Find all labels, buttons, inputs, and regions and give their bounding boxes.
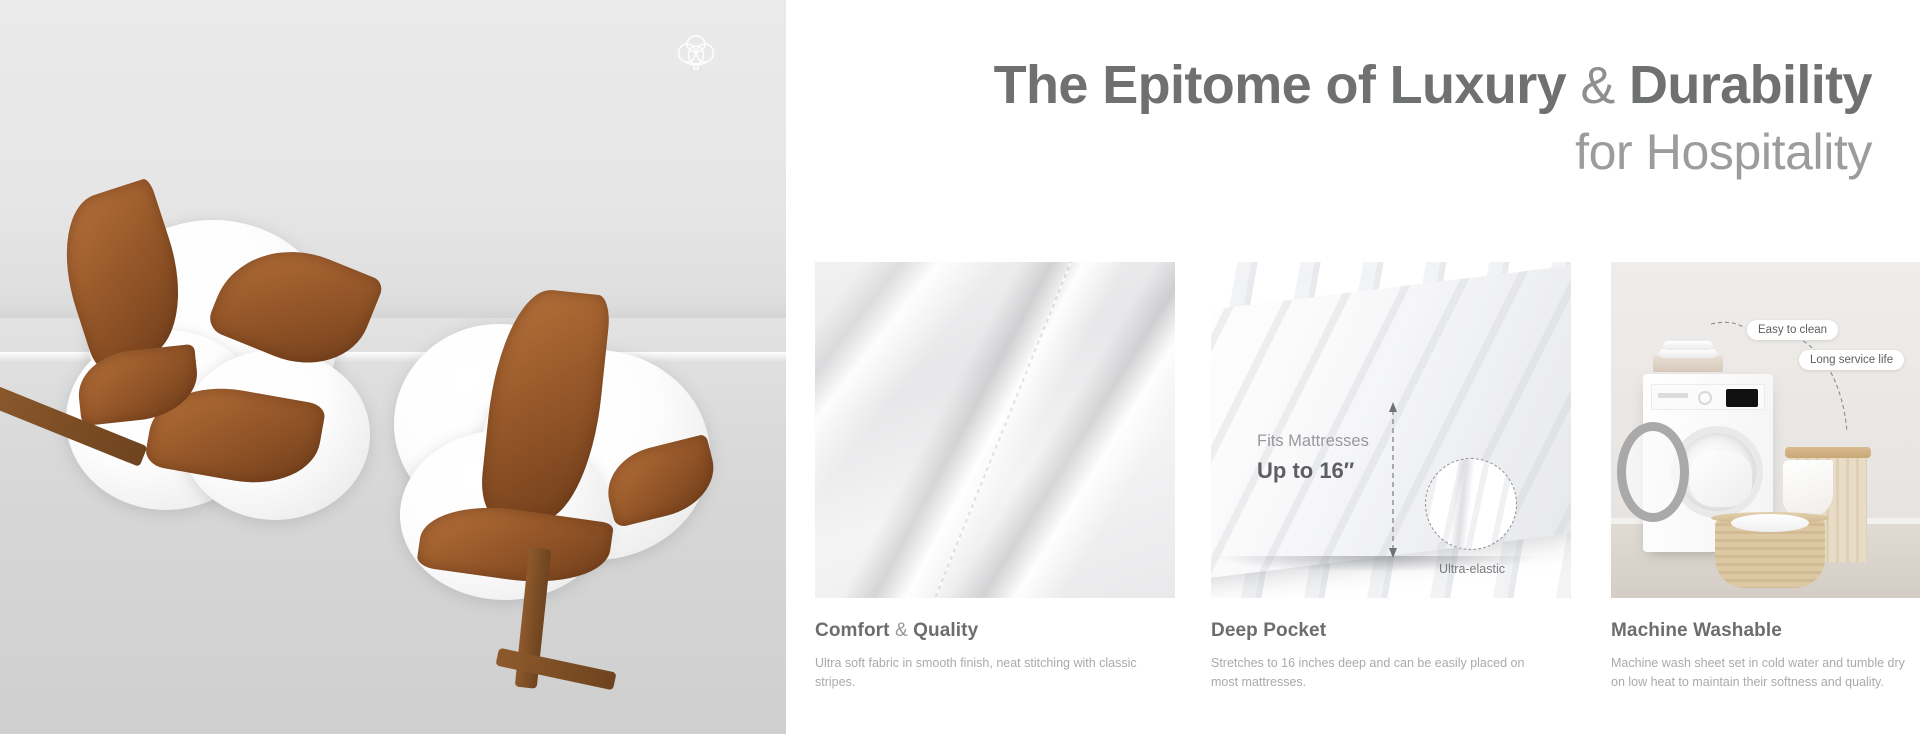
hamper-lid bbox=[1785, 447, 1871, 458]
hero-headline-block: The Epitome of Luxury & Durability for H… bbox=[994, 58, 1872, 178]
feature-card-machine-washable[interactable]: Easy to clean Long service life Machine … bbox=[1611, 262, 1920, 693]
towel-basket bbox=[1653, 356, 1723, 372]
washer-control-panel bbox=[1651, 384, 1765, 410]
card-desc-deep-pocket: Stretches to 16 inches deep and can be e… bbox=[1211, 654, 1541, 693]
depth-value-label: Up to 16″ bbox=[1257, 458, 1354, 484]
elastic-fold-highlight bbox=[1448, 458, 1475, 549]
card-title-machine-washable: Machine Washable bbox=[1611, 620, 1920, 642]
card-title-part-1: Machine Washable bbox=[1611, 620, 1782, 641]
feature-card-deep-pocket[interactable]: Fits Mattresses Up to 16″ Ultra-elastic … bbox=[1211, 262, 1571, 693]
card-title-part-2: Quality bbox=[913, 620, 978, 641]
hero-subheadline: for Hospitality bbox=[994, 127, 1872, 178]
content-panel: The Epitome of Luxury & Durability for H… bbox=[786, 0, 1920, 734]
fabric-texture bbox=[815, 262, 1175, 598]
fits-mattresses-label: Fits Mattresses bbox=[1257, 432, 1369, 451]
towel-roll bbox=[1663, 341, 1713, 350]
folded-towels bbox=[1653, 338, 1723, 372]
depth-dimension-arrow-icon bbox=[1387, 400, 1399, 560]
pill-easy-to-clean: Easy to clean bbox=[1747, 320, 1838, 340]
headline-line-1: The Epitome of Luxury & Durability bbox=[994, 58, 1872, 113]
comfort-quality-image bbox=[815, 262, 1175, 598]
laundry-room-scene: Easy to clean Long service life bbox=[1611, 262, 1920, 598]
ultra-elastic-label: Ultra-elastic bbox=[1417, 562, 1527, 576]
pill-long-service-life: Long service life bbox=[1799, 350, 1904, 370]
cotton-boll-left bbox=[30, 200, 390, 560]
feature-card-comfort-quality[interactable]: Comfort & Quality Ultra soft fabric in s… bbox=[815, 262, 1175, 693]
woven-laundry-basket bbox=[1715, 518, 1825, 588]
card-desc-machine-washable: Machine wash sheet set in cold water and… bbox=[1611, 654, 1920, 693]
basket-white-linen bbox=[1731, 514, 1809, 532]
cotton-boll-icon bbox=[672, 28, 720, 76]
card-title-comfort-quality: Comfort & Quality bbox=[815, 620, 1175, 642]
card-title-ampersand: & bbox=[895, 620, 908, 641]
promo-banner: The Epitome of Luxury & Durability for H… bbox=[0, 0, 1920, 734]
towel-roll bbox=[1659, 349, 1717, 358]
card-desc-comfort-quality: Ultra soft fabric in smooth finish, neat… bbox=[815, 654, 1145, 693]
washer-display-screen bbox=[1726, 389, 1758, 407]
card-title-part-1: Deep Pocket bbox=[1211, 620, 1326, 641]
cotton-boll-right bbox=[360, 300, 720, 660]
card-title-part-1: Comfort bbox=[815, 620, 890, 641]
detergent-drawer bbox=[1658, 393, 1688, 398]
cotton-hero-photo bbox=[0, 0, 786, 734]
card-title-deep-pocket: Deep Pocket bbox=[1211, 620, 1571, 642]
hamper-white-cloth bbox=[1783, 460, 1833, 516]
washer-dial-knob bbox=[1698, 391, 1712, 405]
washer-open-door bbox=[1617, 422, 1689, 522]
laundry-inside-drum bbox=[1690, 451, 1752, 507]
headline-ampersand: & bbox=[1580, 57, 1614, 115]
ultra-elastic-zoom-circle bbox=[1425, 458, 1517, 550]
headline-part-1: The Epitome of Luxury bbox=[994, 55, 1566, 115]
headline-part-2: Durability bbox=[1629, 55, 1872, 115]
machine-washable-image: Easy to clean Long service life bbox=[1611, 262, 1920, 598]
deep-pocket-image: Fits Mattresses Up to 16″ Ultra-elastic bbox=[1211, 262, 1571, 598]
